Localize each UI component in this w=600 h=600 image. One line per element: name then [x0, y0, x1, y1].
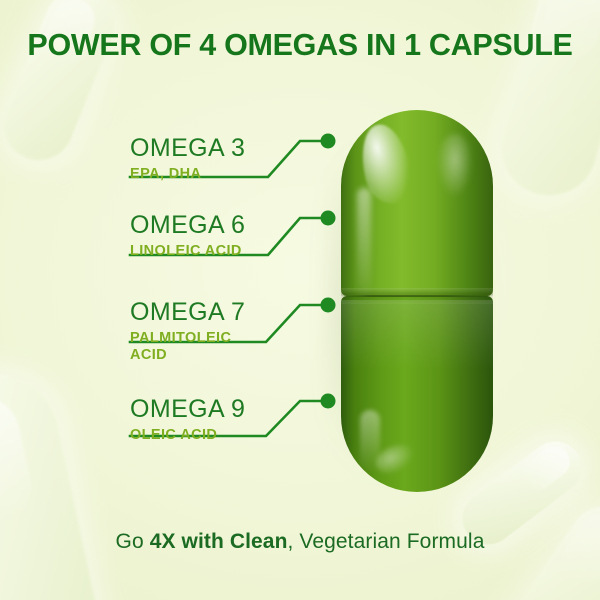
callout-title: OMEGA 9 — [130, 397, 245, 423]
callout-title: OMEGA 7 — [130, 300, 245, 326]
tagline-emphasis: 4X with Clean — [150, 530, 288, 553]
callout-omega-6: OMEGA 6 LINOLEIC ACID — [130, 213, 245, 260]
callout-title: OMEGA 3 — [130, 136, 245, 162]
callout-omega-9: OMEGA 9 OLEIC ACID — [130, 397, 245, 444]
tagline-prefix: Go — [116, 530, 150, 553]
callout-omega-3: OMEGA 3 EPA, DHA — [130, 136, 245, 183]
callout-subtitle: OLEIC ACID — [130, 427, 245, 444]
capsule-bottom-half — [341, 296, 493, 492]
background-capsule-top-left — [0, 0, 125, 171]
omega-capsule-poster: POWER OF 4 OMEGAS IN 1 CAPSULE — [0, 0, 600, 600]
callout-subtitle: EPA, DHA — [130, 166, 245, 183]
tagline-suffix: , Vegetarian Formula — [288, 530, 485, 553]
callout-subtitle: PALMITOLEIC ACID — [130, 330, 245, 364]
page-title: POWER OF 4 OMEGAS IN 1 CAPSULE — [0, 28, 600, 63]
callout-subtitle: LINOLEIC ACID — [130, 243, 245, 260]
tagline: Go 4X with Clean, Vegetarian Formula — [0, 530, 600, 554]
callout-title: OMEGA 6 — [130, 213, 245, 239]
hero-capsule — [341, 110, 493, 492]
capsule-top-half — [341, 110, 493, 296]
background-capsule-bottom-left — [0, 362, 113, 600]
connector-dot-omega-3 — [321, 134, 336, 149]
callout-omega-7: OMEGA 7 PALMITOLEIC ACID — [130, 300, 245, 364]
